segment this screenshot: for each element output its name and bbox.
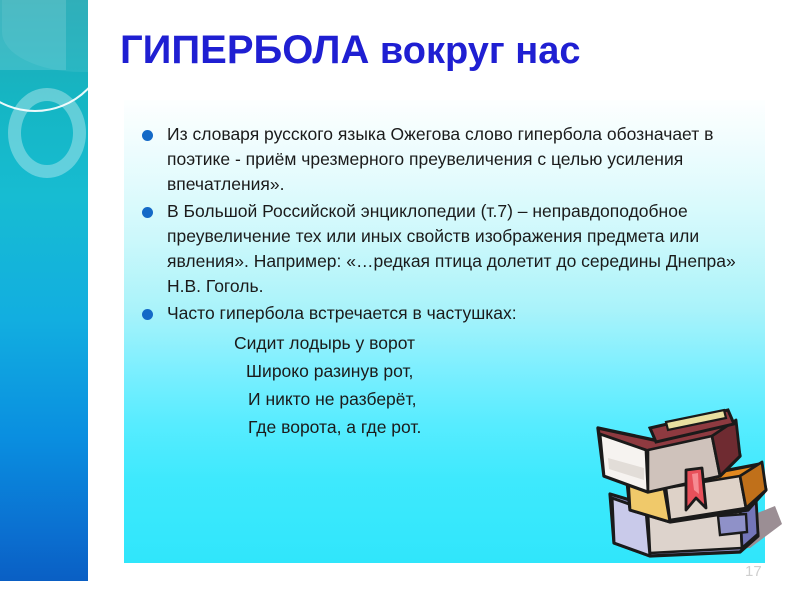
- stack-of-books-image: [590, 398, 790, 563]
- content-text-area: Из словаря русского языка Ожегова слово …: [138, 122, 752, 441]
- slide-canvas: ГИПЕРБОЛА вокруг нас Из словаря русского…: [0, 0, 800, 600]
- title-upper-part: ГИПЕРБОЛА: [120, 28, 369, 72]
- bullet-dot-icon: [142, 130, 153, 141]
- decorative-thick-ring-icon: [8, 88, 86, 178]
- title-rest-part: вокруг нас: [369, 30, 580, 72]
- bullet-text: Из словаря русского языка Ожегова слово …: [167, 122, 752, 197]
- list-item: В Большой Российской энциклопедии (т.7) …: [138, 199, 752, 299]
- list-item: Из словаря русского языка Ожегова слово …: [138, 122, 752, 197]
- verse-line-1: Сидит лодырь у ворот: [234, 329, 752, 357]
- slide-title: ГИПЕРБОЛА вокруг нас: [120, 22, 780, 80]
- verse-line-2: Широко разинув рот,: [234, 357, 752, 385]
- bullet-text: В Большой Российской энциклопедии (т.7) …: [167, 199, 752, 299]
- page-number: 17: [745, 563, 762, 580]
- bullet-dot-icon: [142, 309, 153, 320]
- list-item: Часто гипербола встречается в частушках:: [138, 301, 752, 326]
- bullet-dot-icon: [142, 207, 153, 218]
- decorative-side-band: [0, 0, 88, 581]
- bullet-text: Часто гипербола встречается в частушках:: [167, 301, 752, 326]
